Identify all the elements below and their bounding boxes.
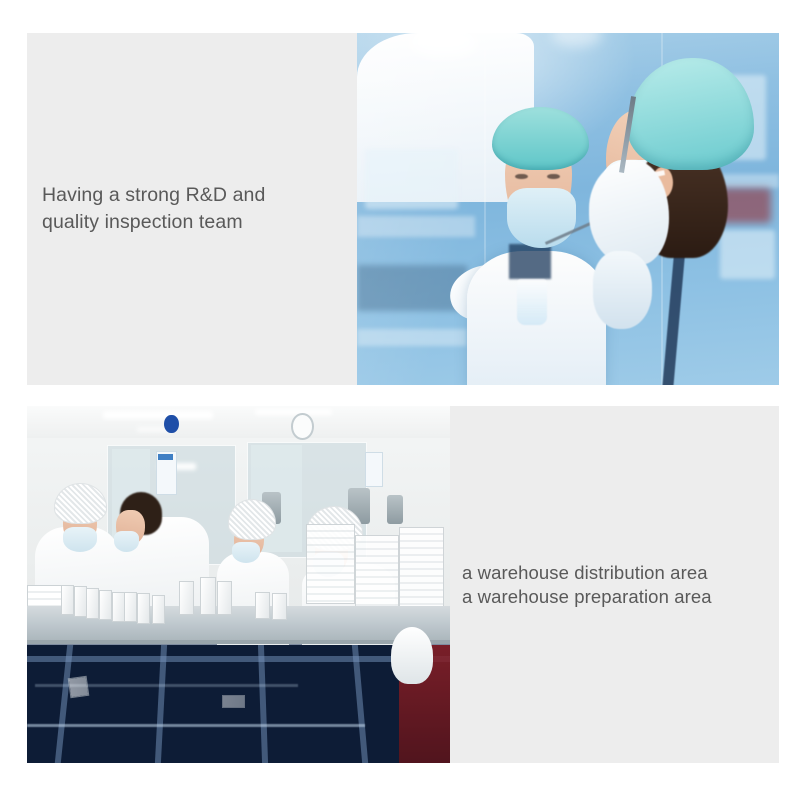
warehouse-packing-photo (27, 406, 450, 763)
product-box-stack (306, 524, 355, 605)
steel-container (387, 495, 404, 524)
table-edge (27, 640, 450, 644)
product-box-stack (399, 527, 443, 615)
background-bench (357, 329, 467, 347)
background-bench (357, 216, 475, 237)
gloved-hand (593, 251, 652, 328)
ceiling (27, 406, 450, 438)
caption-line: a warehouse preparation area (462, 585, 779, 609)
caption-line: quality inspection team (42, 209, 357, 236)
background-equipment (720, 230, 775, 279)
blue-wall-sign (164, 415, 178, 434)
worker-collar (509, 244, 551, 279)
frame-beam (27, 656, 450, 662)
product-box (99, 590, 112, 621)
ceiling-strip-light (255, 409, 331, 415)
product-box (222, 695, 245, 708)
caption-line: Having a strong R&D and (42, 182, 357, 209)
laboratory-inspection-photo (357, 33, 779, 385)
caption-block-bottom: a warehouse distribution area a warehous… (450, 406, 779, 763)
ceiling-light (551, 33, 602, 47)
glass-beaker (517, 279, 547, 325)
wall-clock (291, 413, 314, 440)
product-box (179, 581, 194, 615)
poster-header-bar (158, 454, 173, 460)
product-box (152, 595, 165, 624)
product-box (217, 581, 232, 615)
background-equipment (365, 149, 458, 209)
page-root: Having a strong R&D and quality inspecti… (0, 0, 800, 800)
frame-highlight (27, 724, 365, 728)
product-box (200, 577, 216, 615)
feature-panel-top: Having a strong R&D and quality inspecti… (27, 33, 779, 385)
gloved-hand (589, 160, 669, 266)
product-box (74, 586, 87, 617)
product-box (112, 592, 125, 623)
worker-face-mask (507, 188, 577, 248)
worker-hairnet (492, 107, 589, 170)
product-box (124, 592, 137, 623)
product-box (255, 592, 270, 619)
product-box (137, 593, 150, 624)
wall-poster (365, 452, 383, 486)
product-box (68, 676, 89, 698)
feature-panel-bottom: a warehouse distribution area a warehous… (27, 406, 779, 763)
caption-block-top: Having a strong R&D and quality inspecti… (27, 33, 357, 385)
product-box (272, 593, 287, 620)
caption-line: a warehouse distribution area (462, 561, 779, 585)
product-box (86, 588, 99, 619)
worker-coat-hem (391, 627, 433, 684)
product-box (61, 585, 74, 616)
product-box-stack (355, 535, 399, 612)
ceiling-strip-light (103, 411, 213, 419)
worker-face-mask (232, 542, 259, 563)
